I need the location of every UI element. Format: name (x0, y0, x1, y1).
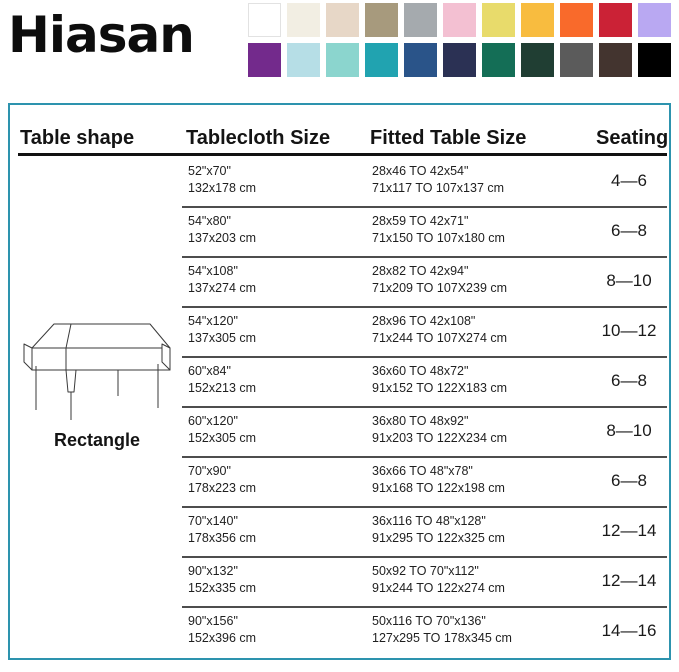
fitted-size-cm: 91x295 TO 122x325 cm (372, 530, 505, 547)
brand-logo: Hiasan (8, 6, 194, 64)
color-swatch-row-2 (248, 43, 678, 77)
fitted-size-inches: 36x116 TO 48"x128" (372, 513, 505, 530)
table-row: 90"x156"152x396 cm50x116 TO 70"x136"127x… (10, 606, 669, 656)
tablecloth-size-inches: 60"x84" (188, 363, 256, 380)
cell-fitted-table-size: 50x116 TO 70"x136"127x295 TO 178x345 cm (372, 613, 512, 647)
table-row: 52"x70"132x178 cm28x46 TO 42x54"71x117 T… (10, 156, 669, 206)
cell-fitted-table-size: 36x66 TO 48"x78"91x168 TO 122x198 cm (372, 463, 505, 497)
color-swatch-grey[interactable] (404, 3, 437, 37)
tablecloth-size-cm: 137x305 cm (188, 330, 256, 347)
color-swatch-orange[interactable] (560, 3, 593, 37)
tablecloth-size-cm: 152x305 cm (188, 430, 256, 447)
cell-seating: 6—8 (586, 470, 672, 492)
fitted-size-inches: 28x82 TO 42x94" (372, 263, 507, 280)
cell-seating: 12—14 (586, 520, 672, 542)
color-swatch-charcoal[interactable] (560, 43, 593, 77)
fitted-size-cm: 71x209 TO 107X239 cm (372, 280, 507, 297)
tablecloth-size-cm: 132x178 cm (188, 180, 256, 197)
fitted-size-inches: 36x60 TO 48x72" (372, 363, 507, 380)
column-header-table-shape: Table shape (20, 127, 134, 150)
color-swatch-beige[interactable] (326, 3, 359, 37)
cell-fitted-table-size: 36x116 TO 48"x128"91x295 TO 122x325 cm (372, 513, 505, 547)
cell-fitted-table-size: 28x96 TO 42x108"71x244 TO 107X274 cm (372, 313, 507, 347)
tablecloth-size-inches: 70"x140" (188, 513, 256, 530)
color-swatch-denim-blue[interactable] (404, 43, 437, 77)
color-swatch-grid (248, 3, 678, 83)
tablecloth-size-cm: 152x213 cm (188, 380, 256, 397)
fitted-size-cm: 127x295 TO 178x345 cm (372, 630, 512, 647)
cell-seating: 6—8 (586, 370, 672, 392)
fitted-size-cm: 91x244 TO 122x274 cm (372, 580, 505, 597)
color-swatch-black[interactable] (638, 43, 671, 77)
cell-seating: 8—10 (586, 420, 672, 442)
fitted-size-cm: 71x244 TO 107X274 cm (372, 330, 507, 347)
size-chart-card: Table shape Tablecloth Size Fitted Table… (8, 103, 671, 660)
tablecloth-size-cm: 137x274 cm (188, 280, 256, 297)
tablecloth-size-cm: 178x356 cm (188, 530, 256, 547)
cell-seating: 8—10 (586, 270, 672, 292)
cell-fitted-table-size: 28x46 TO 42x54"71x117 TO 107x137 cm (372, 163, 504, 197)
tablecloth-size-cm: 152x396 cm (188, 630, 256, 647)
cell-tablecloth-size: 60"x84"152x213 cm (188, 363, 256, 397)
fitted-size-cm: 71x117 TO 107x137 cm (372, 180, 504, 197)
fitted-size-cm: 91x152 TO 122X183 cm (372, 380, 507, 397)
cell-seating: 6—8 (586, 220, 672, 242)
color-swatch-pink[interactable] (443, 3, 476, 37)
cell-seating: 4—6 (586, 170, 672, 192)
color-swatch-red[interactable] (599, 3, 632, 37)
cell-tablecloth-size: 60"x120"152x305 cm (188, 413, 256, 447)
fitted-size-inches: 50x92 TO 70"x112" (372, 563, 505, 580)
table-row: 54"x108"137x274 cm28x82 TO 42x94"71x209 … (10, 256, 669, 306)
tablecloth-size-inches: 54"x108" (188, 263, 256, 280)
fitted-size-cm: 71x150 TO 107x180 cm (372, 230, 505, 247)
fitted-size-inches: 28x96 TO 42x108" (372, 313, 507, 330)
color-swatch-row-1 (248, 3, 678, 37)
fitted-size-inches: 36x80 TO 48x92" (372, 413, 507, 430)
tablecloth-size-inches: 54"x120" (188, 313, 256, 330)
color-swatch-light-yellow[interactable] (482, 3, 515, 37)
cell-fitted-table-size: 28x59 TO 42x71"71x150 TO 107x180 cm (372, 213, 505, 247)
tablecloth-size-inches: 52"x70" (188, 163, 256, 180)
color-swatch-white[interactable] (248, 3, 281, 37)
table-row: 70"x90"178x223 cm36x66 TO 48"x78"91x168 … (10, 456, 669, 506)
fitted-size-inches: 50x116 TO 70"x136" (372, 613, 512, 630)
fitted-size-inches: 28x59 TO 42x71" (372, 213, 505, 230)
cell-tablecloth-size: 52"x70"132x178 cm (188, 163, 256, 197)
cell-fitted-table-size: 36x80 TO 48x92"91x203 TO 122X234 cm (372, 413, 507, 447)
table-header-row: Table shape Tablecloth Size Fitted Table… (10, 105, 669, 153)
table-row: 70"x140"178x356 cm36x116 TO 48"x128"91x2… (10, 506, 669, 556)
column-header-tablecloth-size: Tablecloth Size (186, 127, 330, 150)
tablecloth-size-inches: 90"x156" (188, 613, 256, 630)
column-header-seating: Seating (596, 127, 668, 150)
tablecloth-size-cm: 137x203 cm (188, 230, 256, 247)
rectangle-table-icon (22, 310, 172, 422)
cell-fitted-table-size: 36x60 TO 48x72"91x152 TO 122X183 cm (372, 363, 507, 397)
color-swatch-purple[interactable] (248, 43, 281, 77)
cell-tablecloth-size: 54"x120"137x305 cm (188, 313, 256, 347)
cell-tablecloth-size: 90"x156"152x396 cm (188, 613, 256, 647)
color-swatch-gold[interactable] (521, 3, 554, 37)
tablecloth-size-cm: 178x223 cm (188, 480, 256, 497)
table-shape-cell: Rectangle (14, 310, 180, 451)
column-header-fitted-table-size: Fitted Table Size (370, 127, 526, 150)
tablecloth-size-inches: 54"x80" (188, 213, 256, 230)
color-swatch-teal[interactable] (365, 43, 398, 77)
color-swatch-emerald[interactable] (482, 43, 515, 77)
cell-fitted-table-size: 28x82 TO 42x94"71x209 TO 107X239 cm (372, 263, 507, 297)
tablecloth-size-cm: 152x335 cm (188, 580, 256, 597)
color-swatch-lavender[interactable] (638, 3, 671, 37)
cell-tablecloth-size: 70"x140"178x356 cm (188, 513, 256, 547)
cell-tablecloth-size: 54"x108"137x274 cm (188, 263, 256, 297)
fitted-size-inches: 28x46 TO 42x54" (372, 163, 504, 180)
tablecloth-size-inches: 70"x90" (188, 463, 256, 480)
color-swatch-navy[interactable] (443, 43, 476, 77)
tablecloth-size-inches: 60"x120" (188, 413, 256, 430)
color-swatch-ivory[interactable] (287, 3, 320, 37)
table-row: 54"x80"137x203 cm28x59 TO 42x71"71x150 T… (10, 206, 669, 256)
color-swatch-dark-green[interactable] (521, 43, 554, 77)
fitted-size-inches: 36x66 TO 48"x78" (372, 463, 505, 480)
cell-tablecloth-size: 90"x132"152x335 cm (188, 563, 256, 597)
fitted-size-cm: 91x168 TO 122x198 cm (372, 480, 505, 497)
cell-seating: 10—12 (586, 320, 672, 342)
cell-tablecloth-size: 54"x80"137x203 cm (188, 213, 256, 247)
color-swatch-dark-brown[interactable] (599, 43, 632, 77)
cell-tablecloth-size: 70"x90"178x223 cm (188, 463, 256, 497)
color-swatch-khaki[interactable] (365, 3, 398, 37)
cell-fitted-table-size: 50x92 TO 70"x112"91x244 TO 122x274 cm (372, 563, 505, 597)
cell-seating: 14—16 (586, 620, 672, 642)
table-row: 90"x132"152x335 cm50x92 TO 70"x112"91x24… (10, 556, 669, 606)
table-shape-label: Rectangle (14, 430, 180, 451)
tablecloth-size-inches: 90"x132" (188, 563, 256, 580)
cell-seating: 12—14 (586, 570, 672, 592)
color-swatch-light-blue[interactable] (287, 43, 320, 77)
color-swatch-aqua[interactable] (326, 43, 359, 77)
brand-header: Hiasan (0, 0, 679, 92)
fitted-size-cm: 91x203 TO 122X234 cm (372, 430, 507, 447)
